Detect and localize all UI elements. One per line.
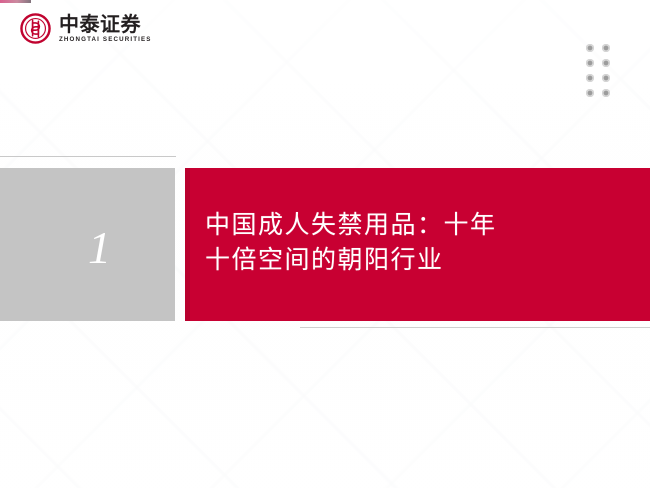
grid-dot — [602, 74, 610, 82]
grid-dot — [586, 59, 594, 67]
brand-logo-text: 中泰证券 ZHONGTAI SECURITIES — [59, 14, 152, 43]
presentation-slide: 中泰证券 ZHONGTAI SECURITIES 1 中国成人失禁用品：十年 十… — [0, 0, 650, 488]
section-title: 中国成人失禁用品：十年 十倍空间的朝阳行业 — [185, 208, 497, 281]
brand-name-cn: 中泰证券 — [59, 14, 152, 34]
section-title-banner: 中国成人失禁用品：十年 十倍空间的朝阳行业 — [185, 168, 650, 321]
top-left-accent-line — [0, 0, 31, 3]
zhongtai-emblem-icon — [20, 13, 51, 44]
grid-dot — [602, 89, 610, 97]
divider-line-bottom — [300, 327, 650, 328]
grid-dot — [586, 89, 594, 97]
section-number: 1 — [64, 219, 111, 271]
brand-logo: 中泰证券 ZHONGTAI SECURITIES — [20, 13, 152, 44]
decorative-dot-grid — [586, 44, 618, 104]
divider-line-top-left — [0, 156, 176, 157]
section-number-panel: 1 — [0, 168, 175, 321]
brand-name-en: ZHONGTAI SECURITIES — [59, 37, 152, 43]
grid-dot — [602, 44, 610, 52]
grid-dot — [602, 59, 610, 67]
grid-dot — [586, 74, 594, 82]
grid-dot — [586, 44, 594, 52]
